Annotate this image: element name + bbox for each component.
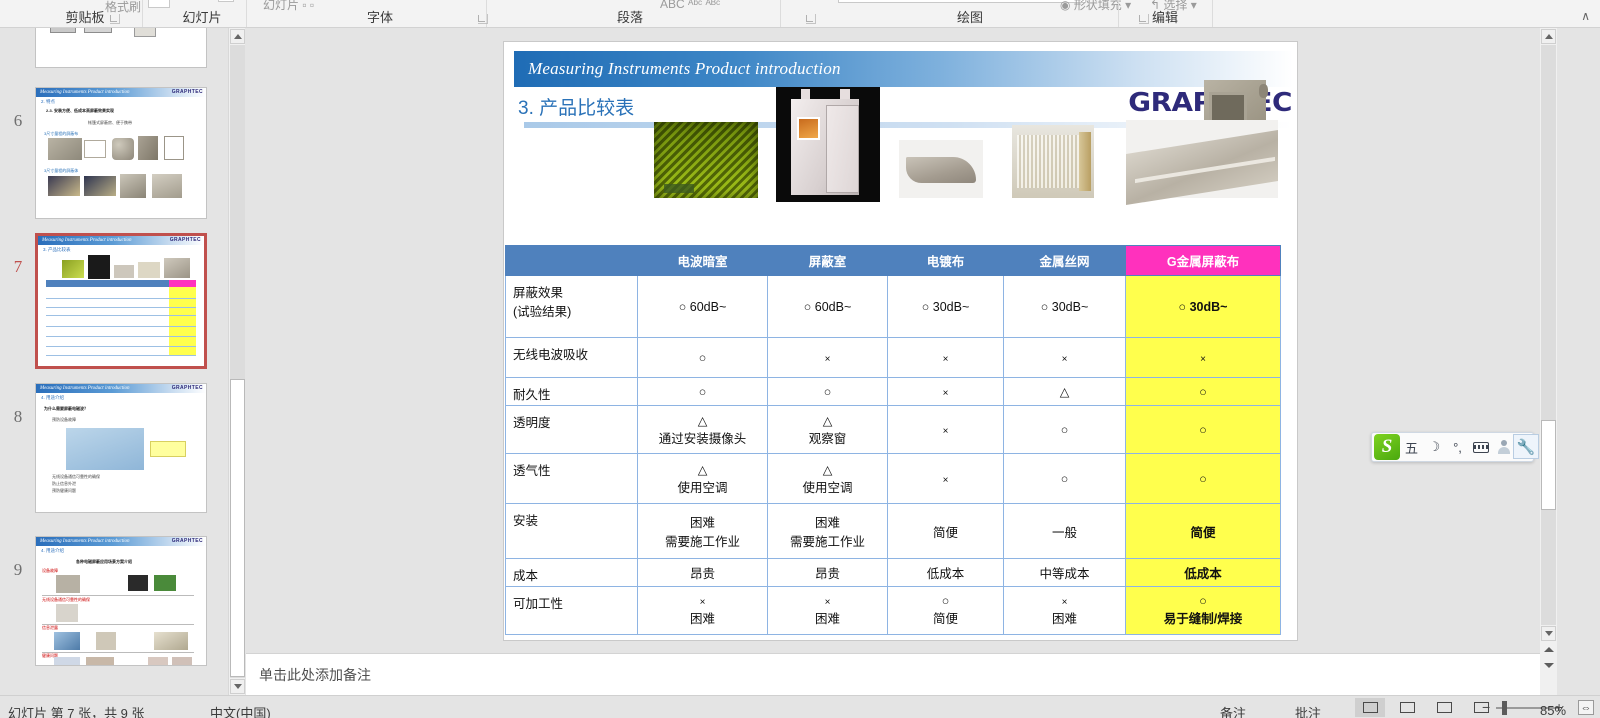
person-icon[interactable]	[1492, 432, 1515, 462]
cell-r2-c3: △	[1004, 378, 1126, 406]
status-bar: 幻灯片 第 7 张，共 9 张 中文(中国) 备注 批注 − + 85% ⇔	[0, 695, 1600, 718]
row-header-6: 成本	[506, 559, 638, 587]
thumbnail-card-7[interactable]: Measuring Instruments Product introducti…	[35, 233, 207, 369]
thumb9-logo: GRAPHTEC	[172, 538, 203, 545]
cell-mark: ○	[804, 300, 812, 314]
font-dialog-launcher[interactable]	[478, 14, 488, 24]
cell-subtext: 使用空调	[641, 477, 764, 496]
thumb6-img8	[120, 174, 146, 198]
cell-mark: ○	[824, 385, 832, 399]
cell-mark: ×	[1062, 597, 1068, 608]
thumb8-callout	[150, 441, 186, 457]
thumb9-img1	[56, 575, 80, 593]
thumbnail-card-8[interactable]: Measuring Instruments Product introducti…	[35, 383, 207, 513]
thumb6-img3	[112, 138, 134, 160]
slide-band-title: Measuring Instruments Product introducti…	[528, 59, 841, 79]
row-header-sub-0: (试验结果)	[513, 301, 634, 320]
table-row: 可加工性×困难×困难○简便×困难○易于缝制/焊接	[506, 587, 1281, 635]
ribbon-group-editing[interactable]: 编辑	[1120, 0, 1210, 27]
cell-r4-c3: ○	[1004, 454, 1126, 504]
thumb7-img4	[138, 262, 160, 278]
thumbnail-number-7: 7	[6, 257, 30, 277]
thumb6-img9	[152, 174, 182, 198]
row-header-7: 可加工性	[506, 587, 638, 635]
cell-mark: ○	[942, 594, 950, 608]
cell-subtext: 困难	[771, 608, 884, 627]
cell-mark: ×	[943, 388, 949, 399]
cell-mark: ○	[1199, 423, 1207, 437]
status-slide-counter[interactable]: 幻灯片 第 7 张，共 9 张	[8, 703, 145, 718]
col-header-anechoic: 电波暗室	[638, 246, 768, 276]
ribbon-group-paragraph[interactable]: 段落	[500, 0, 760, 27]
cell-r0-c1: ○ 60dB~	[768, 276, 888, 338]
cell-r5-c1: 困难需要施工作业	[768, 504, 888, 559]
zoom-slider-knob[interactable]	[1502, 701, 1507, 715]
cell-mark: ○	[1199, 594, 1207, 608]
thumbnail-scroll-down-button[interactable]	[230, 679, 245, 694]
next-slide-button[interactable]	[1541, 660, 1556, 671]
view-reading-button[interactable]	[1429, 698, 1459, 717]
cell-r5-c3: 一般	[1004, 504, 1126, 559]
thumb7-img5	[164, 258, 190, 278]
thumb6-img7	[84, 176, 116, 196]
slide-edit-area[interactable]: Measuring Instruments Product introducti…	[246, 28, 1540, 653]
thumb9-subtitle: 4. 用途介绍	[41, 548, 64, 554]
thumb7-subtitle: 3. 产品比较表	[43, 247, 71, 253]
zoom-out-button[interactable]: −	[1482, 700, 1490, 714]
cell-r6-c2: 低成本	[888, 559, 1004, 587]
view-normal-button[interactable]	[1355, 698, 1385, 717]
thumb7-table-header-hl	[169, 280, 196, 287]
status-notes-button[interactable]: 备注	[1220, 703, 1246, 718]
thumb9-img8	[54, 657, 80, 666]
thumb6-img6	[48, 176, 80, 196]
cell-mark: 一般	[1052, 526, 1077, 540]
cell-r1-c3: ×	[1004, 338, 1126, 378]
table-row: 安装困难需要施工作业困难需要施工作业简便一般简便	[506, 504, 1281, 559]
ime-mode-wubi[interactable]: 五	[1400, 432, 1423, 462]
cell-mark: ×	[943, 426, 949, 437]
slide-heading: 3. 产品比较表	[518, 93, 634, 120]
cell-r2-c4: ○	[1126, 378, 1281, 406]
thumb5-laptop	[84, 28, 112, 33]
cell-r2-c0: ○	[638, 378, 768, 406]
thumb9-img7	[154, 632, 188, 650]
cell-mark: 困难	[815, 516, 840, 530]
thumbnail-scrollbar[interactable]	[228, 28, 245, 695]
ribbon-group-label-editing: 编辑	[1152, 10, 1178, 25]
fit-to-window-button[interactable]: ⇔	[1578, 700, 1594, 715]
thumb8-building-diagram	[66, 428, 144, 470]
keyboard-glyph	[1473, 442, 1489, 453]
cell-r4-c4: ○	[1126, 454, 1281, 504]
cell-r1-c0: ○	[638, 338, 768, 378]
col-header-metalmesh: 金属丝网	[1004, 246, 1126, 276]
cell-mark: △	[823, 414, 833, 428]
thumb6-img1	[48, 138, 82, 160]
cell-r3-c2: ×	[888, 406, 1004, 454]
status-comments-button[interactable]: 批注	[1295, 703, 1321, 718]
cell-mark: ×	[943, 475, 949, 486]
normal-view-icon	[1363, 702, 1378, 713]
thumb9-img4	[56, 604, 78, 622]
cell-mark: 低成本	[927, 567, 965, 581]
thumbnail-number-8: 8	[6, 407, 30, 427]
cell-r7-c0: ×困难	[638, 587, 768, 635]
thumb8-bullet-3: 防止信息外泄	[52, 481, 76, 487]
thumb6-caption-b: 3尺寸量程的屏蔽体	[44, 168, 78, 174]
thumb9-header: Measuring Instruments Product introducti…	[36, 537, 206, 546]
cell-mark: 简便	[933, 526, 958, 540]
thumb7-band-title: Measuring Instruments Product introducti…	[42, 236, 132, 245]
moon-icon[interactable]: ☽	[1423, 432, 1446, 462]
ribbon-group-label-paragraph: 段落	[617, 10, 643, 25]
cell-r7-c3: ×困难	[1004, 587, 1126, 635]
cell-mark: ○	[1179, 300, 1187, 314]
thumb9-heading: 各种电磁屏蔽应用场景方案介绍	[76, 559, 132, 565]
thumbnail-number-6: 6	[6, 111, 30, 131]
thumb6-img4	[138, 136, 158, 160]
status-language[interactable]: 中文(中国)	[210, 703, 271, 718]
cell-r0-c0: ○ 60dB~	[638, 276, 768, 338]
thumb5-chamber	[134, 28, 156, 37]
keyboard-icon[interactable]	[1469, 432, 1492, 462]
sorter-view-icon	[1400, 702, 1415, 713]
cell-mark: ○	[679, 300, 687, 314]
cell-mark: ○	[699, 351, 707, 365]
thumb9-img6	[96, 632, 116, 650]
right-gutter	[1557, 28, 1600, 695]
main-scroll-down-button[interactable]	[1541, 626, 1556, 641]
main-scroll-track[interactable]	[1541, 45, 1556, 625]
ribbon-group-font[interactable]: 字体	[280, 0, 480, 27]
chevron-down-icon	[1545, 631, 1553, 636]
cell-subtext: 易于缝制/焊接	[1129, 608, 1277, 627]
table-row: 屏蔽效果(试验结果)○ 60dB~○ 60dB~○ 30dB~○ 30dB~○ …	[506, 276, 1281, 338]
cell-mark: 简便	[1190, 526, 1215, 540]
view-slideshow-button[interactable]	[1466, 698, 1496, 717]
thumbnail-number-9: 9	[6, 560, 30, 580]
thumb6-band-title: Measuring Instruments Product introducti…	[40, 88, 130, 97]
cell-r7-c1: ×困难	[768, 587, 888, 635]
ribbon-group-label-drawing: 绘图	[957, 10, 983, 25]
row-header-5: 安装	[506, 504, 638, 559]
cell-subtext: 简便	[891, 608, 1000, 627]
ribbon-group-drawing[interactable]: 绘图	[830, 0, 1110, 27]
cell-mark: 低成本	[1184, 567, 1222, 581]
thumb6-header: Measuring Instruments Product introducti…	[36, 88, 206, 97]
cell-r5-c4: 简便	[1126, 504, 1281, 559]
cell-subtext: 困难	[1007, 608, 1122, 627]
cell-r7-c2: ○简便	[888, 587, 1004, 635]
cell-mark: ○	[1199, 385, 1207, 399]
cell-subtext: 通过安装摄像头	[641, 428, 764, 447]
table-row: 透明度△通过安装摄像头△观察窗×○○	[506, 406, 1281, 454]
col-header-shieldroom: 屏蔽室	[768, 246, 888, 276]
thumb6-logo: GRAPHTEC	[172, 89, 203, 96]
zoom-level-label: 85%	[1540, 703, 1566, 718]
thumb9-row-3: 信息泄露	[42, 625, 58, 631]
thumb7-logo: GRAPHTEC	[170, 237, 201, 244]
ribbon-group-label-font: 字体	[367, 10, 393, 25]
main-scroll-thumb[interactable]	[1541, 420, 1556, 510]
table-row: 透气性△使用空调△使用空调×○○	[506, 454, 1281, 504]
slide-thumbnail-pane[interactable]: 6 Measuring Instruments Product introduc…	[0, 28, 228, 695]
cell-r5-c2: 简便	[888, 504, 1004, 559]
thumb7-img2	[88, 255, 110, 279]
thumb8-logo: GRAPHTEC	[172, 385, 203, 392]
g-metal-shield-cloth-photo[interactable]	[1126, 120, 1278, 198]
cell-r1-c4: ×	[1126, 338, 1281, 378]
product-comparison-table[interactable]: 电波暗室 屏蔽室 电镀布 金属丝网 G金属屏蔽布 屏蔽效果(试验结果)○ 60d…	[505, 245, 1281, 635]
cell-r6-c3: 中等成本	[1004, 559, 1126, 587]
cell-mark: ×	[700, 597, 706, 608]
thumb7-header: Measuring Instruments Product introducti…	[38, 236, 204, 245]
cell-subtext: 需要施工作业	[641, 531, 764, 550]
cell-r0-c2: ○ 30dB~	[888, 276, 1004, 338]
table-corner-cell	[506, 246, 638, 276]
thumb6-heading: 2-3. 安装方便、低成本高屏蔽效果实现	[46, 108, 114, 114]
cell-subtext: 观察窗	[771, 428, 884, 447]
view-slide-sorter-button[interactable]	[1392, 698, 1422, 717]
row-header-3: 透明度	[506, 406, 638, 454]
sogou-ime-toolbar[interactable]: S 五 ☽ °,	[1371, 432, 1534, 462]
clipboard-dialog-launcher[interactable]	[110, 14, 120, 24]
thumb8-bullet-2: 无线设备通信可靠性的确保	[52, 474, 100, 480]
cell-r6-c4: 低成本	[1126, 559, 1281, 587]
cell-mark: ○	[699, 385, 707, 399]
thumb9-band-title: Measuring Instruments Product introducti…	[40, 537, 130, 546]
cell-r1-c1: ×	[768, 338, 888, 378]
thumb8-header: Measuring Instruments Product introducti…	[36, 384, 206, 393]
thumb9-img2	[128, 575, 148, 591]
cell-mark: ×	[825, 354, 831, 365]
thumb8-bullet-4: 预防健康问题	[52, 488, 76, 494]
double-chevron-down-icon	[1544, 663, 1554, 668]
double-chevron-up-icon	[1544, 647, 1554, 652]
cell-mark: ×	[1062, 354, 1068, 365]
chevron-down-icon	[234, 684, 242, 689]
cell-subtext: 困难	[641, 608, 764, 627]
cell-r4-c0: △使用空调	[638, 454, 768, 504]
shield-room-photo[interactable]	[776, 87, 880, 202]
cell-r7-c4: ○易于缝制/焊接	[1126, 587, 1281, 635]
thumb8-subtitle: 4. 用途介绍	[41, 395, 64, 401]
row-header-1: 无线电波吸收	[506, 338, 638, 378]
col-header-platingcloth: 电镀布	[888, 246, 1004, 276]
current-slide[interactable]: Measuring Instruments Product introducti…	[503, 41, 1298, 641]
thumb6-caption-a: 3尺寸量程的屏蔽布	[44, 131, 78, 137]
thumb6-img5	[164, 136, 184, 160]
tent-hose	[1259, 84, 1269, 97]
cell-mark: 困难	[690, 516, 715, 530]
table-row: 无线电波吸收○××××	[506, 338, 1281, 378]
punctuation-icon[interactable]: °,	[1446, 432, 1469, 462]
cell-subtext: 需要施工作业	[771, 531, 884, 550]
cell-r5-c0: 困难需要施工作业	[638, 504, 768, 559]
cell-r4-c2: ×	[888, 454, 1004, 504]
row-header-4: 透气性	[506, 454, 638, 504]
table-header-row: 电波暗室 屏蔽室 电镀布 金属丝网 G金属屏蔽布	[506, 246, 1281, 276]
cell-mark: ○	[1199, 472, 1207, 486]
cell-mark: △	[698, 414, 708, 428]
cell-mark: ○	[1061, 472, 1069, 486]
cell-subtext: 使用空调	[771, 477, 884, 496]
metal-mesh-photo[interactable]	[1012, 125, 1094, 198]
slide-title-band: Measuring Instruments Product introducti…	[514, 51, 1293, 87]
ribbon-group-label-slides: 幻灯片	[182, 10, 221, 25]
table-row: 成本昂贵昂贵低成本中等成本低成本	[506, 559, 1281, 587]
thumb6-img2	[84, 140, 106, 158]
reading-view-icon	[1437, 702, 1452, 713]
thumbnail-card-6[interactable]: Measuring Instruments Product introducti…	[35, 87, 207, 219]
thumb5-monitor	[50, 28, 76, 33]
cell-r2-c1: ○	[768, 378, 888, 406]
cell-r3-c4: ○	[1126, 406, 1281, 454]
thumb9-img3	[154, 575, 176, 591]
ribbon-group-slides[interactable]: 幻灯片	[148, 0, 256, 27]
cell-r0-c4: ○ 30dB~	[1126, 276, 1281, 338]
thumb9-img11	[172, 657, 192, 666]
table-row: 耐久性○○×△○	[506, 378, 1281, 406]
row-header-2: 耐久性	[506, 378, 638, 406]
thumb8-heading: 为什么需要屏蔽电磁波？	[44, 406, 88, 412]
shield-room-door	[826, 105, 859, 192]
cell-mark: 昂贵	[815, 567, 840, 581]
thumb9-img9	[86, 657, 114, 666]
cell-r1-c2: ×	[888, 338, 1004, 378]
thumb8-band-title: Measuring Instruments Product introducti…	[40, 384, 130, 393]
main-scroll-up-button[interactable]	[1541, 29, 1556, 44]
ribbon-group-label-clipboard: 剪贴板	[65, 10, 104, 25]
previous-slide-button[interactable]	[1541, 644, 1556, 655]
wrench-icon[interactable]: 🔧	[1513, 434, 1539, 459]
thumbnail-card-5[interactable]	[35, 28, 207, 68]
thumb9-row-2: 无线设备通信可靠性的确保	[42, 597, 90, 603]
row-header-0: 屏蔽效果(试验结果)	[506, 276, 638, 338]
cell-mark: ○	[1041, 300, 1049, 314]
cell-mark: ×	[943, 354, 949, 365]
thumb7-img3	[114, 265, 134, 278]
thumbnail-scroll-thumb[interactable]	[230, 379, 245, 677]
thumbnail-card-9[interactable]: Measuring Instruments Product introducti…	[35, 536, 207, 666]
thumb7-img1	[62, 260, 84, 278]
cell-mark: △	[698, 463, 708, 477]
cell-r3-c3: ○	[1004, 406, 1126, 454]
thumb9-img5	[54, 632, 80, 650]
chevron-up-icon	[1545, 34, 1553, 39]
cell-mark: 中等成本	[1039, 567, 1089, 581]
col-header-gshieldcloth: G金属屏蔽布	[1126, 246, 1281, 276]
cell-r6-c0: 昂贵	[638, 559, 768, 587]
thumb9-img10	[148, 657, 168, 666]
thumbnail-scroll-up-button[interactable]	[230, 29, 245, 44]
cell-mark: △	[823, 463, 833, 477]
sogou-logo-icon[interactable]: S	[1374, 434, 1400, 460]
cell-r0-c3: ○ 30dB~	[1004, 276, 1126, 338]
cell-mark: ×	[1200, 354, 1206, 365]
cell-r6-c1: 昂贵	[768, 559, 888, 587]
thumb6-note: 帐篷式屏蔽房、便于携带	[88, 120, 132, 126]
cell-mark: ○	[922, 300, 930, 314]
thumb6-subtitle: 2. 特点	[41, 99, 55, 105]
cell-mark: △	[1060, 385, 1070, 399]
paragraph-dialog-launcher[interactable]	[806, 14, 816, 24]
cell-mark: ×	[825, 597, 831, 608]
thumb9-row-1: 设备故障	[42, 568, 58, 574]
anechoic-chamber-photo[interactable]	[654, 122, 758, 198]
cell-r2-c2: ×	[888, 378, 1004, 406]
cell-r3-c1: △观察窗	[768, 406, 888, 454]
notes-pane[interactable]: 单击此处添加备注	[246, 653, 1540, 695]
notes-placeholder[interactable]: 单击此处添加备注	[259, 665, 371, 685]
cell-r3-c0: △通过安装摄像头	[638, 406, 768, 454]
cell-mark: 昂贵	[690, 567, 715, 581]
cell-mark: ○	[1061, 423, 1069, 437]
collapse-ribbon-button[interactable]: ∧	[1581, 9, 1590, 23]
main-vertical-scrollbar[interactable]	[1540, 28, 1557, 695]
person-glyph	[1497, 440, 1511, 454]
chevron-up-icon	[234, 34, 242, 39]
ribbon-group-clipboard[interactable]: 剪贴板	[30, 0, 140, 27]
shield-room-window	[797, 117, 820, 140]
ribbon-strip: 格式刷 幻灯片 ▫ ▫ ABC ᴬᵇᶜ ᴬᴮᶜ ◉ 形状填充 ▾ ↰ 选择 ▾ …	[0, 0, 1600, 28]
cell-r4-c1: △使用空调	[768, 454, 888, 504]
plating-cloth-photo[interactable]	[899, 140, 983, 198]
thumb8-bullet-1: 预防设备故障	[52, 417, 76, 423]
